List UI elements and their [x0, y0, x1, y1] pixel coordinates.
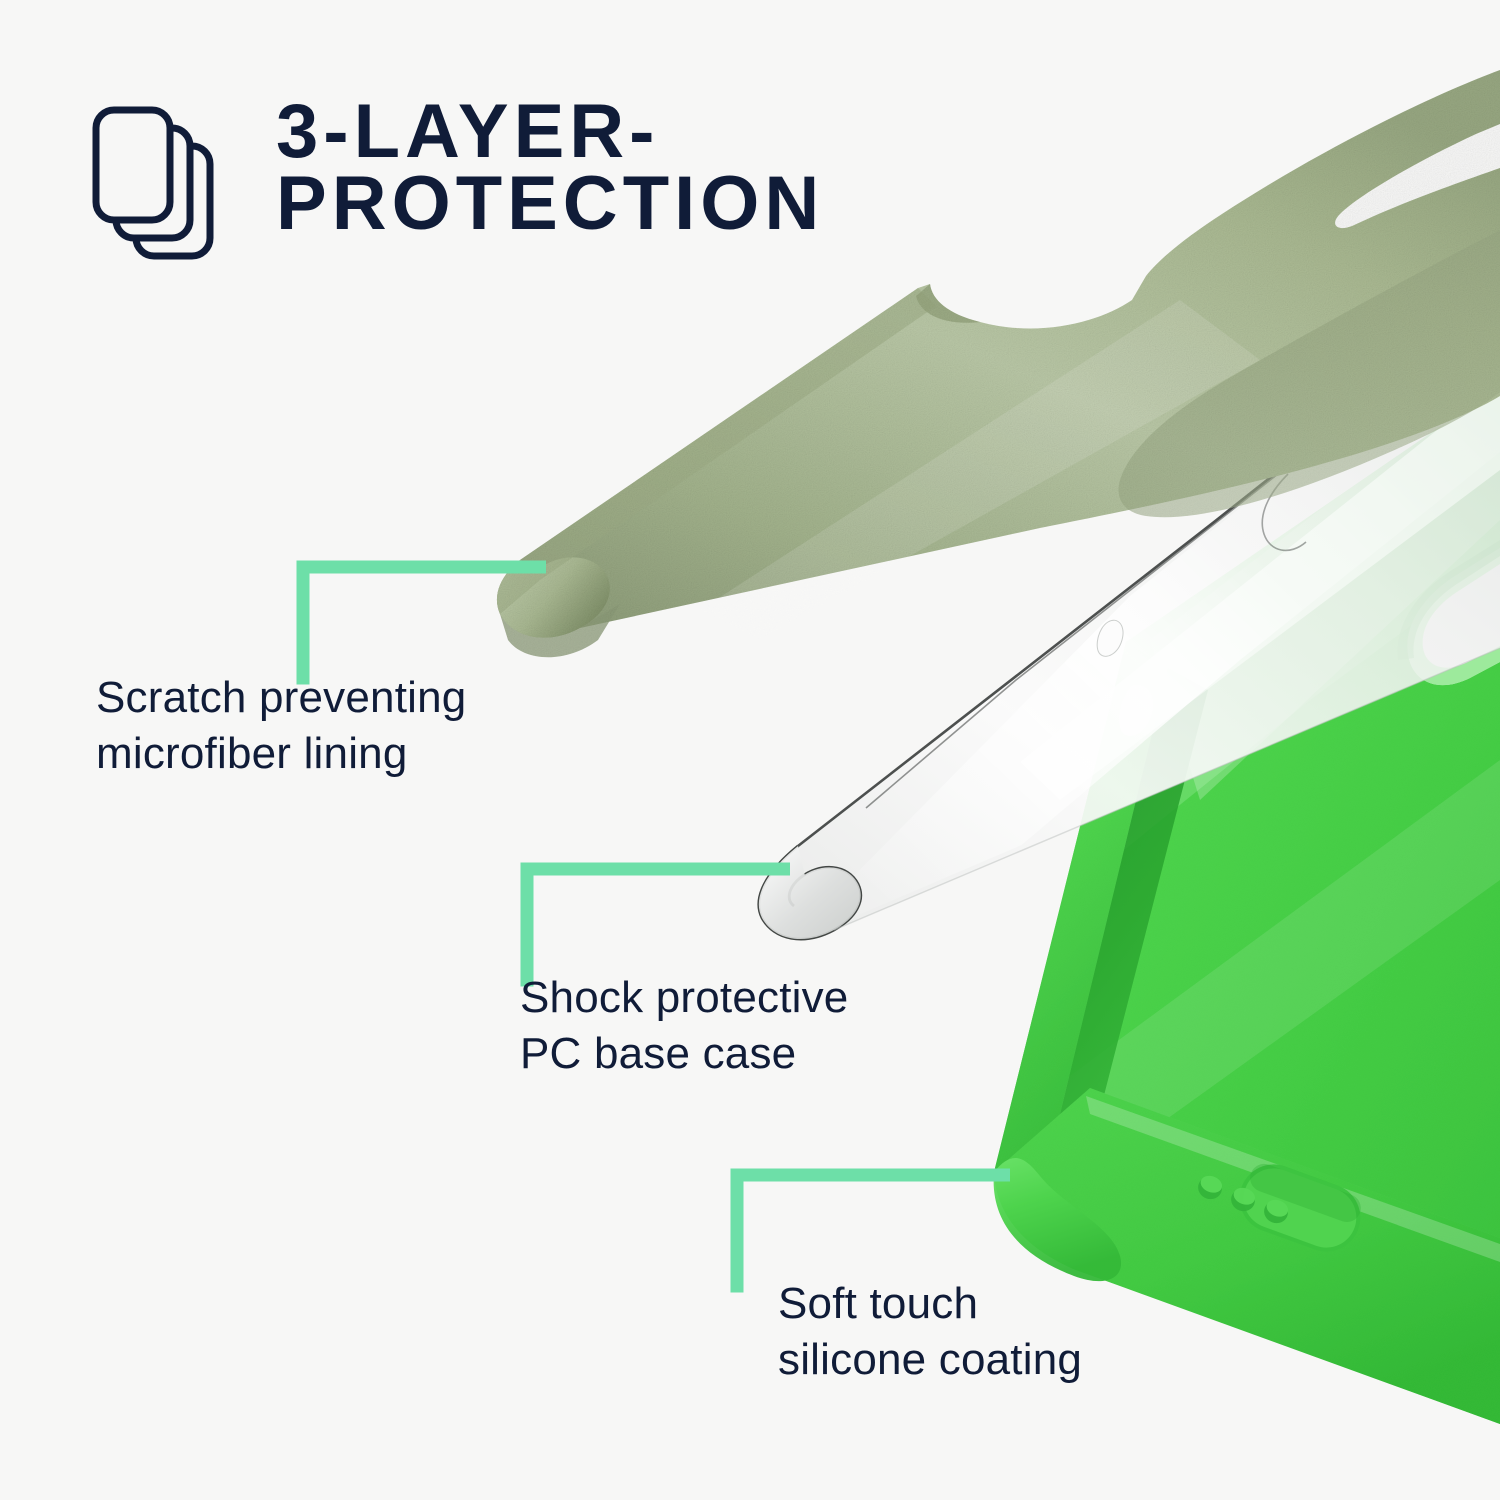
callout-label-microfiber: Scratch preventing microfiber lining: [96, 670, 716, 783]
callout-label-silicone: Soft touch silicone coating: [778, 1276, 1338, 1389]
silicone-outer-case-layer: [994, 372, 1500, 1424]
camera-cutout: [1397, 540, 1500, 685]
side-button-cutout: [1119, 685, 1153, 736]
speaker-grille-holes: [1195, 1173, 1291, 1226]
charging-port-cutout: [1230, 1155, 1370, 1261]
infographic-canvas: 3-LAYER- PROTECTION Scratch preventing m…: [0, 0, 1500, 1500]
pc-base-case-layer: [759, 296, 1500, 948]
callout-label-pc-base: Shock protective PC base case: [520, 970, 1080, 1083]
header: 3-LAYER- PROTECTION: [88, 96, 824, 270]
stacked-layers-icon: [88, 100, 228, 270]
page-title: 3-LAYER- PROTECTION: [276, 96, 824, 240]
